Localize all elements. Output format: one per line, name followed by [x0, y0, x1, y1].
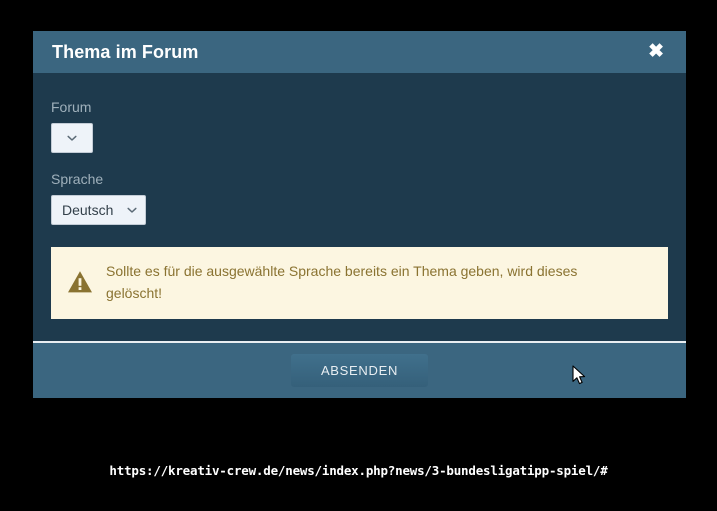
forum-select[interactable] [51, 123, 93, 153]
modal-title: Thema im Forum [51, 43, 198, 61]
modal-header: Thema im Forum ✖ [33, 31, 686, 73]
sprache-select[interactable]: Deutsch [51, 195, 146, 225]
submit-button[interactable]: ABSENDEN [291, 354, 428, 387]
modal-footer: ABSENDEN [33, 343, 686, 398]
forum-topic-modal: Thema im Forum ✖ Forum Sprache De [33, 31, 686, 398]
warning-text: Sollte es für die ausgewählte Sprache be… [106, 260, 626, 305]
status-bar-url: https://kreativ-crew.de/news/index.php?n… [109, 463, 607, 478]
close-icon[interactable]: ✖ [644, 40, 668, 65]
status-bar: https://kreativ-crew.de/news/index.php?n… [0, 455, 717, 485]
field-group-sprache: Sprache Deutsch [51, 171, 668, 225]
field-group-forum: Forum [51, 99, 668, 153]
warning-triangle-icon [67, 269, 93, 295]
warning-message: Sollte es für die ausgewählte Sprache be… [51, 247, 668, 319]
forum-label: Forum [51, 99, 668, 116]
chevron-down-icon [127, 205, 137, 215]
chevron-down-icon [67, 133, 77, 143]
sprache-label: Sprache [51, 171, 668, 188]
modal-body: Forum Sprache Deutsch [33, 73, 686, 341]
modal-overlay: Thema im Forum ✖ Forum Sprache De [0, 0, 717, 511]
sprache-select-value: Deutsch [62, 202, 113, 218]
